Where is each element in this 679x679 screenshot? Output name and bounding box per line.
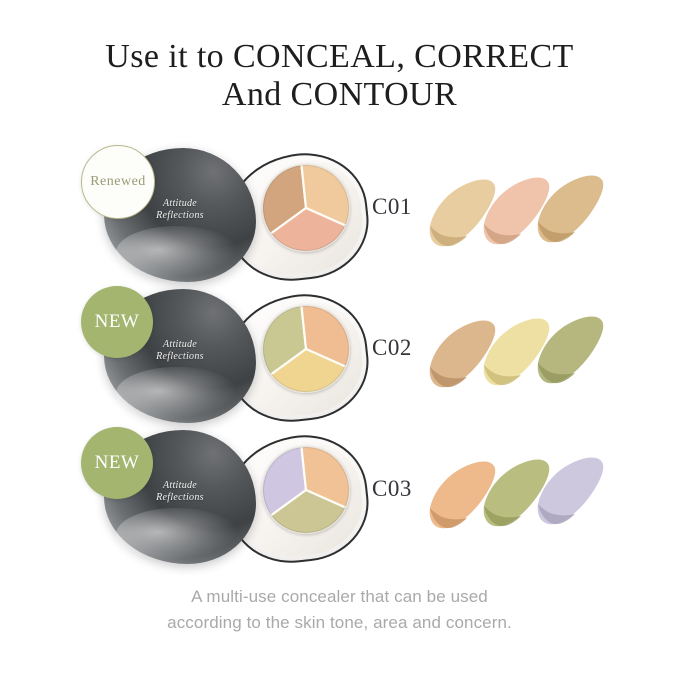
shade-code-c03: C03 <box>372 476 412 502</box>
page-title-line-1: Use it to CONCEAL, CORRECT <box>0 38 679 76</box>
badge-new-c03: NEW <box>81 427 153 499</box>
shade-code-c02: C02 <box>372 335 412 361</box>
lid-highlight-c03 <box>116 508 238 562</box>
badge-new-c02: NEW <box>81 286 153 358</box>
swatch-group-c02 <box>418 305 613 405</box>
lid-highlight-c02 <box>116 367 238 421</box>
caption-line-2: according to the skin tone, area and con… <box>0 610 679 636</box>
badge-label-c03: NEW <box>95 452 140 474</box>
product-caption: A multi-use concealer that can be used a… <box>0 584 679 636</box>
swatch-group-c01 <box>418 164 613 264</box>
product-row-c01: Attitude Reflections Renewed C01 <box>0 142 679 282</box>
product-feature-image: Use it to CONCEAL, CORRECT And CONTOUR A… <box>0 0 679 679</box>
badge-label-c01: Renewed <box>90 174 146 190</box>
page-title-line-2: And CONTOUR <box>0 76 679 114</box>
badge-label-c02: NEW <box>95 311 140 333</box>
product-row-c03: Attitude Reflections NEW C03 <box>0 424 679 564</box>
badge-renewed-c01: Renewed <box>81 145 155 219</box>
lid-highlight-c01 <box>116 226 238 280</box>
page-title: Use it to CONCEAL, CORRECT And CONTOUR <box>0 38 679 114</box>
product-row-c02: Attitude Reflections NEW C02 <box>0 283 679 423</box>
caption-line-1: A multi-use concealer that can be used <box>0 584 679 610</box>
swatch-group-c03 <box>418 446 613 546</box>
shade-code-c01: C01 <box>372 194 412 220</box>
